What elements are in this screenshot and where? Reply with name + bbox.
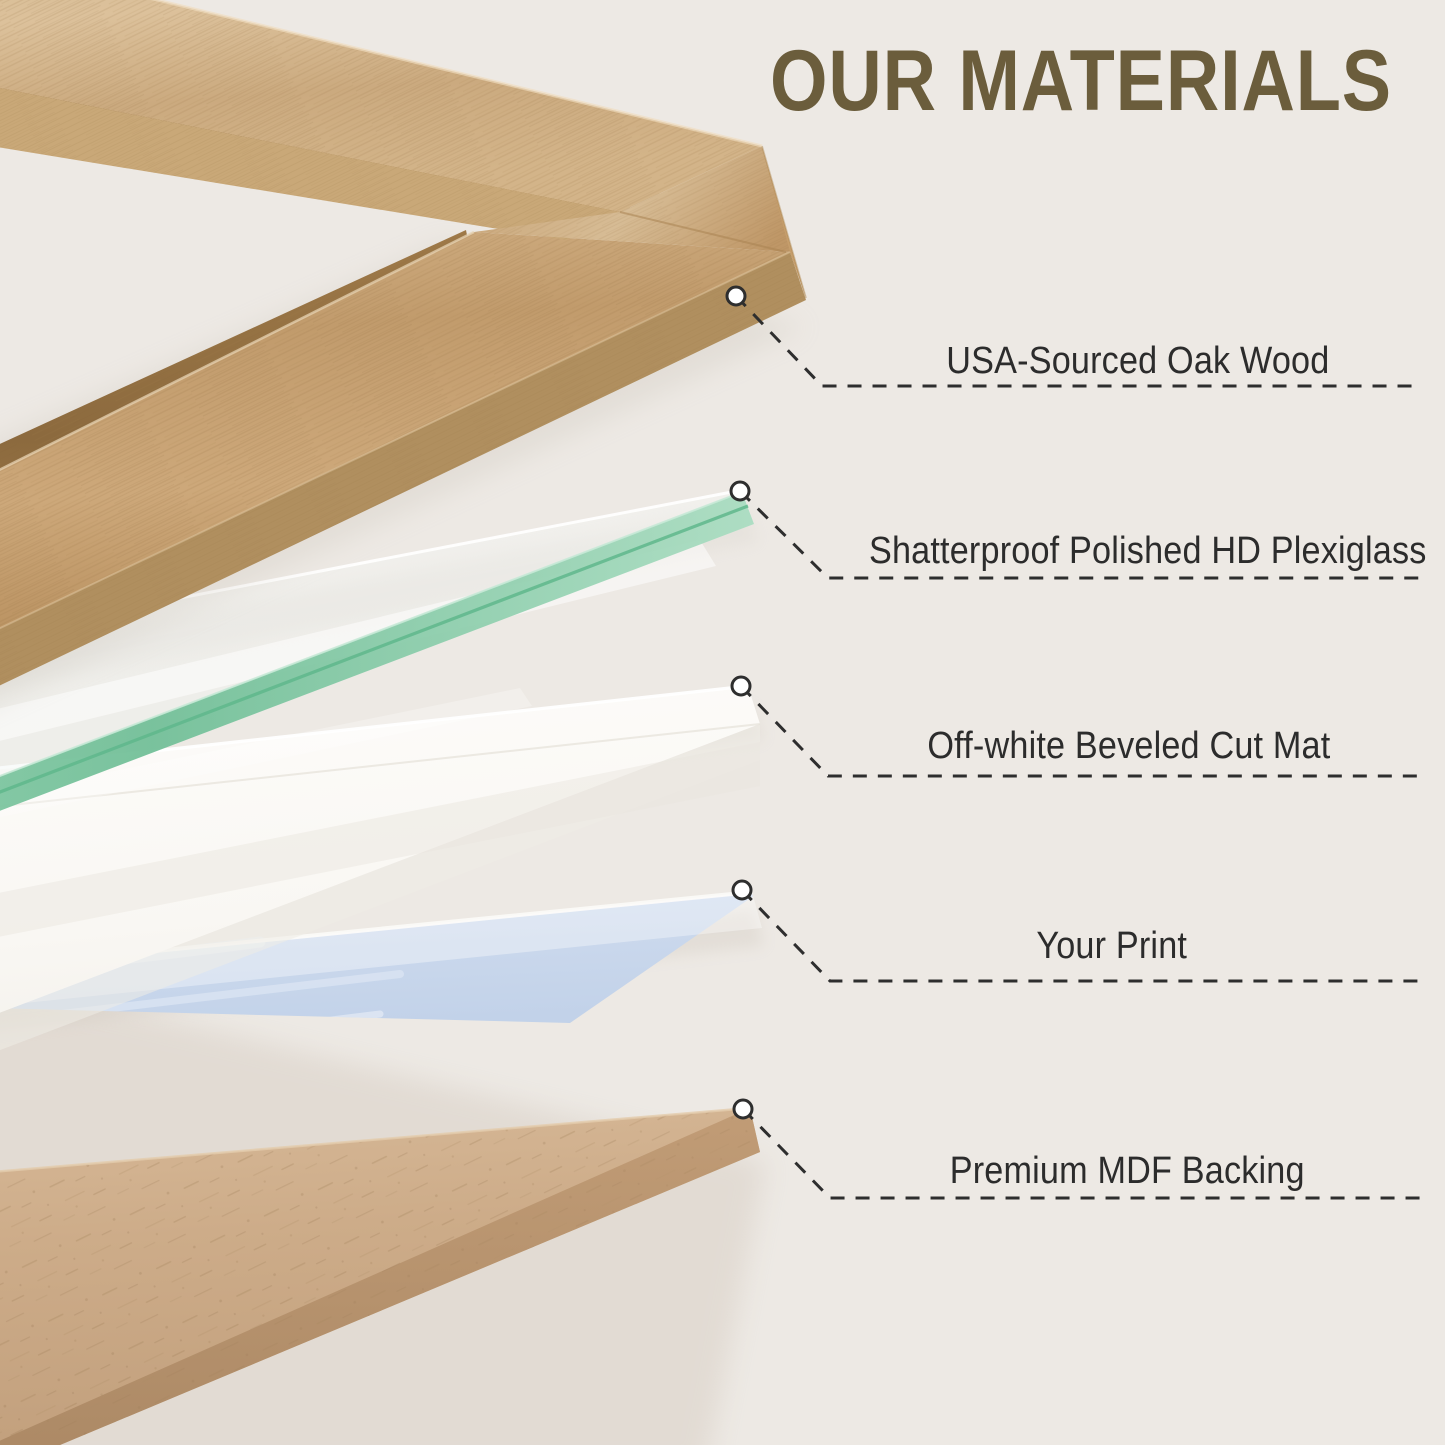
callout-label-print: Your Print — [1036, 925, 1187, 968]
page-title: OUR MATERIALS — [770, 36, 1392, 126]
materials-infographic: OUR MATERIALS USA-Sourced Oak Wood Shatt… — [0, 0, 1445, 1445]
callout-label-mdf-backing: Premium MDF Backing — [950, 1150, 1305, 1193]
callout-label-oak-wood: USA-Sourced Oak Wood — [946, 340, 1329, 383]
callout-label-mat: Off-white Beveled Cut Mat — [927, 725, 1330, 768]
exploded-frame-illustration — [0, 0, 1445, 1445]
callout-label-plexiglass: Shatterproof Polished HD Plexiglass — [869, 530, 1427, 573]
